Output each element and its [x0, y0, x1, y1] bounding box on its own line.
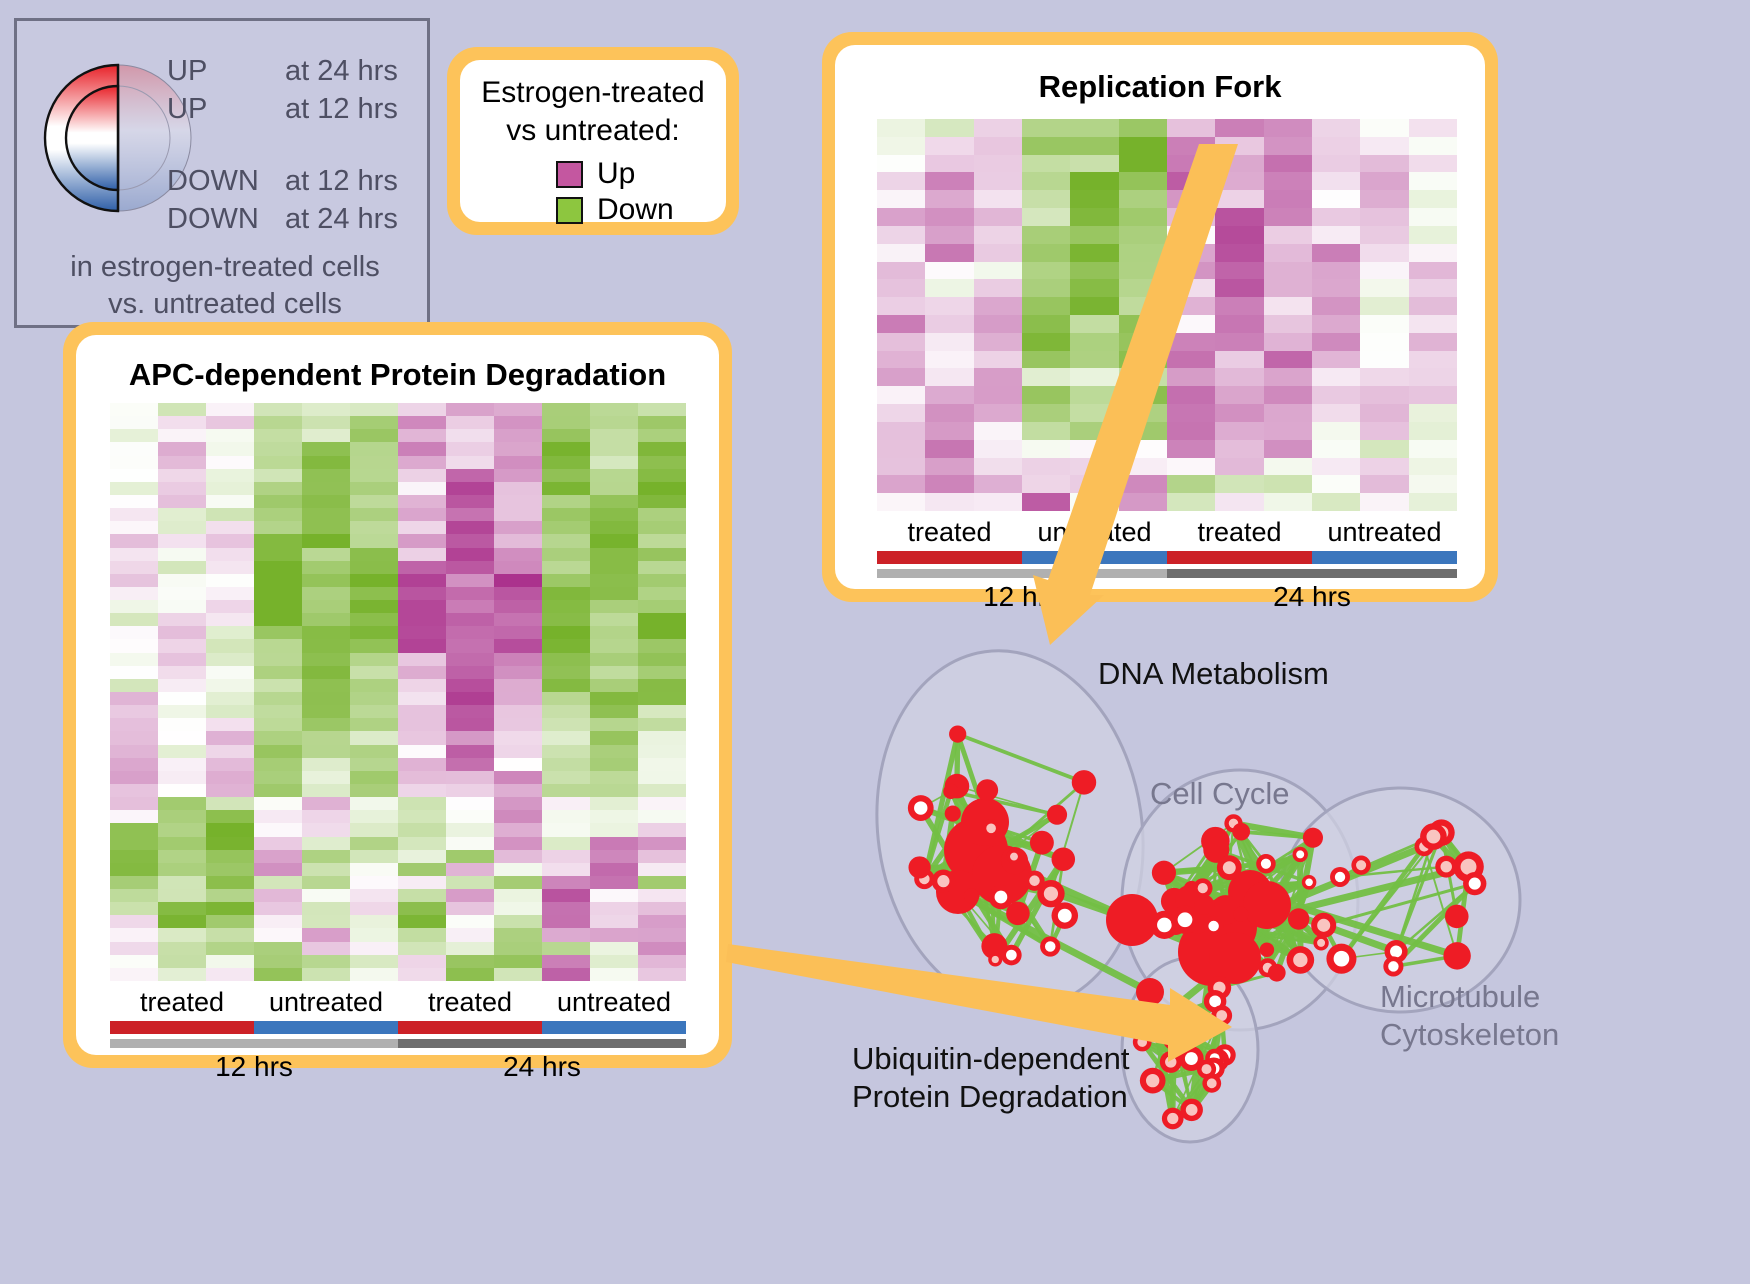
network-node-core — [1305, 879, 1313, 887]
heatmap-cell — [1119, 190, 1167, 208]
heatmap-cell — [206, 692, 254, 705]
heatmap-cell — [350, 679, 398, 692]
heatmap-cell — [1022, 404, 1070, 422]
heatmap-cell — [542, 534, 590, 547]
heatmap-cell — [1312, 386, 1360, 404]
heatmap-cell — [1119, 315, 1167, 333]
heatmap-cell — [398, 626, 446, 639]
heatmap-cell — [638, 508, 686, 521]
legend-swatch-down-icon — [556, 197, 583, 224]
heatmap-cell — [350, 482, 398, 495]
legend-items: Up Down — [556, 156, 674, 228]
heatmap-cell — [350, 626, 398, 639]
heatmap-cell — [398, 548, 446, 561]
heatmap-cell — [877, 422, 925, 440]
heatmap-cell — [494, 850, 542, 863]
heatmap-cell — [542, 600, 590, 613]
network-node — [1072, 770, 1096, 794]
heatmap-cell — [110, 561, 158, 574]
heatmap-cell — [398, 587, 446, 600]
group-label: untreated — [1312, 517, 1457, 551]
heatmap-cell — [302, 456, 350, 469]
heatmap-cell — [110, 928, 158, 941]
heatmap-cell — [206, 705, 254, 718]
heatmap-cell — [350, 863, 398, 876]
heatmap-cell — [638, 639, 686, 652]
heatmap-cell — [1360, 172, 1408, 190]
heatmap-cell — [542, 561, 590, 574]
heatmap-cell — [494, 705, 542, 718]
heatmap-cell — [974, 226, 1022, 244]
heatmap-cell — [158, 456, 206, 469]
heatmap-cell — [925, 351, 973, 369]
heatmap-cell — [590, 915, 638, 928]
heatmap-cell — [158, 784, 206, 797]
heatmap-cell — [158, 863, 206, 876]
cluster-label-ubiquitin-line2: Protein Degradation — [852, 1078, 1128, 1116]
heatmap-cell — [254, 639, 302, 652]
heatmap-cell — [350, 955, 398, 968]
heatmap-cell — [398, 653, 446, 666]
heatmap-cell — [877, 226, 925, 244]
heatmap-cell — [350, 745, 398, 758]
heatmap-cell — [302, 955, 350, 968]
heatmap-cell — [494, 968, 542, 981]
heatmap-cell — [254, 745, 302, 758]
heatmap-cell — [590, 534, 638, 547]
key-row: UP at 24 hrs — [167, 55, 425, 93]
legend-title: Estrogen-treated vs untreated: — [460, 74, 726, 150]
heatmap-cell — [446, 469, 494, 482]
heatmap-cell — [494, 416, 542, 429]
heatmap-cell — [302, 705, 350, 718]
heatmap-cell — [158, 745, 206, 758]
heatmap-cell — [638, 942, 686, 955]
heatmap-cell — [206, 495, 254, 508]
heatmap-cell — [398, 955, 446, 968]
panel-title-replication: Replication Fork — [835, 69, 1485, 105]
heatmap-cell — [542, 889, 590, 902]
network-node — [1232, 823, 1250, 841]
heatmap-cell — [638, 915, 686, 928]
key-row: UP at 12 hrs — [167, 93, 425, 131]
network-node-core — [1334, 951, 1350, 967]
heatmap-cell — [590, 574, 638, 587]
heatmap-cell — [590, 955, 638, 968]
heatmap-cell — [254, 521, 302, 534]
heatmap-cell — [206, 626, 254, 639]
heatmap-cell — [1360, 351, 1408, 369]
heatmap-cell — [350, 889, 398, 902]
heatmap-cell — [350, 534, 398, 547]
heatmap-cell — [110, 942, 158, 955]
heatmap-cell — [398, 600, 446, 613]
heatmap-cell — [206, 587, 254, 600]
heatmap-cell — [206, 731, 254, 744]
heatmap-cell — [350, 600, 398, 613]
network-node — [1006, 902, 1030, 926]
heatmap-cell — [638, 876, 686, 889]
heatmap-cell — [254, 915, 302, 928]
heatmap-cell — [974, 404, 1022, 422]
heatmap-cell — [1409, 386, 1457, 404]
heatmap-cell — [1070, 119, 1118, 137]
heatmap-cell — [446, 758, 494, 771]
heatmap-cell — [110, 902, 158, 915]
heatmap-cell — [974, 368, 1022, 386]
heatmap-cell — [1167, 368, 1215, 386]
network-node — [943, 784, 958, 799]
heatmap-cell — [446, 942, 494, 955]
heatmap-cell — [590, 495, 638, 508]
network-node-core — [1146, 1074, 1159, 1087]
treatment-bar-segment — [398, 1021, 542, 1034]
heatmap-cell — [350, 968, 398, 981]
heatmap-cell — [494, 639, 542, 652]
heatmap-cell — [1312, 172, 1360, 190]
heatmap-cell — [1360, 458, 1408, 476]
heatmap-cell — [206, 653, 254, 666]
heatmap-cell — [638, 442, 686, 455]
heatmap-cell — [1022, 226, 1070, 244]
heatmap-cell — [254, 482, 302, 495]
group-label: treated — [398, 987, 542, 1021]
heatmap-cell — [1022, 422, 1070, 440]
heatmap-cell — [206, 955, 254, 968]
network-node — [1209, 932, 1261, 984]
legend-item-up: Up — [556, 156, 674, 192]
heatmap-cell — [494, 442, 542, 455]
heatmap-cell — [206, 456, 254, 469]
heatmap-cell — [350, 705, 398, 718]
heatmap-cell — [254, 534, 302, 547]
heatmap-cell — [1360, 386, 1408, 404]
heatmap-cell — [1215, 333, 1263, 351]
heatmap-cell — [110, 679, 158, 692]
heatmap-cell — [1264, 137, 1312, 155]
heatmap-cell — [494, 771, 542, 784]
network-node-core — [1390, 946, 1402, 958]
heatmap-cell — [590, 863, 638, 876]
heatmap-cell — [206, 561, 254, 574]
heatmap-cell — [446, 915, 494, 928]
network-node-core — [1149, 1017, 1160, 1028]
heatmap-cell — [542, 731, 590, 744]
color-key-box: UP at 24 hrs UP at 12 hrs DOWN at 12 hrs… — [14, 18, 430, 328]
heatmap-cell — [1167, 279, 1215, 297]
heatmap-cell — [1119, 137, 1167, 155]
heatmap-cell — [206, 837, 254, 850]
heatmap-cell — [254, 626, 302, 639]
heatmap-cell — [398, 810, 446, 823]
heatmap-cell — [542, 626, 590, 639]
heatmap-cell — [206, 574, 254, 587]
heatmap-cell — [542, 850, 590, 863]
key-row: DOWN at 12 hrs — [167, 165, 425, 203]
heatmap-cell — [1264, 440, 1312, 458]
heatmap-cell — [158, 679, 206, 692]
network-node — [949, 725, 966, 742]
heatmap-cell — [398, 823, 446, 836]
treatment-bar-apc — [110, 1021, 686, 1034]
heatmap-cell — [1409, 493, 1457, 511]
heatmap-cell — [590, 889, 638, 902]
heatmap-cell — [302, 771, 350, 784]
heatmap-cell — [494, 942, 542, 955]
heatmap-cell — [494, 784, 542, 797]
heatmap-cell — [974, 422, 1022, 440]
heatmap-cell — [974, 315, 1022, 333]
heatmap-cell — [302, 718, 350, 731]
heatmap-cell — [350, 771, 398, 784]
heatmap-cell — [1215, 190, 1263, 208]
heatmap-cell — [1360, 297, 1408, 315]
heatmap-cell — [158, 968, 206, 981]
heatmap-cell — [398, 718, 446, 731]
heatmap-cell — [1167, 119, 1215, 137]
heatmap-cell — [398, 508, 446, 521]
network-node — [1233, 907, 1248, 922]
heatmap-cell — [590, 731, 638, 744]
heatmap-cell — [542, 521, 590, 534]
heatmap-cell — [1119, 493, 1167, 511]
heatmap-cell — [638, 403, 686, 416]
heatmap-cell — [206, 429, 254, 442]
heatmap-cell — [925, 440, 973, 458]
heatmap-cell — [590, 810, 638, 823]
figure-root: UP at 24 hrs UP at 12 hrs DOWN at 12 hrs… — [0, 0, 1750, 1279]
heatmap-cell — [446, 534, 494, 547]
group-labels-apc: treated untreated treated untreated — [110, 987, 686, 1021]
heatmap-cell — [542, 548, 590, 561]
heatmap-cell — [1215, 368, 1263, 386]
heatmap-cell — [1167, 351, 1215, 369]
heatmap-cell — [302, 692, 350, 705]
heatmap-cell — [494, 666, 542, 679]
heatmap-cell — [638, 626, 686, 639]
network-node — [1288, 908, 1309, 929]
heatmap-cell — [925, 119, 973, 137]
heatmap-cell — [638, 850, 686, 863]
heatmap-cell — [350, 823, 398, 836]
heatmap-cell — [1022, 386, 1070, 404]
network-node-core — [1164, 1016, 1175, 1027]
treatment-bar-segment — [1167, 551, 1312, 564]
heatmap-cell — [158, 837, 206, 850]
heatmap-cell — [494, 679, 542, 692]
treatment-bar-segment — [542, 1021, 686, 1034]
heatmap-cell — [350, 666, 398, 679]
heatmap-cell — [446, 797, 494, 810]
heatmap-cell — [1215, 226, 1263, 244]
heatmap-cell — [302, 442, 350, 455]
heatmap-cell — [925, 172, 973, 190]
heatmap-cell — [158, 889, 206, 902]
key-time: at 12 hrs — [285, 165, 398, 198]
heatmap-cell — [1119, 368, 1167, 386]
heatmap-cell — [1264, 172, 1312, 190]
heatmap-cell — [302, 639, 350, 652]
heatmap-cell — [446, 928, 494, 941]
heatmap-cell — [590, 456, 638, 469]
heatmap-cell — [590, 718, 638, 731]
heatmap-cell — [398, 705, 446, 718]
heatmap-cell — [110, 403, 158, 416]
heatmap-cell — [1022, 208, 1070, 226]
heatmap-cell — [350, 548, 398, 561]
heatmap-cell — [1312, 190, 1360, 208]
heatmap-cell — [110, 810, 158, 823]
heatmap-cell — [398, 456, 446, 469]
heatmap-cell — [638, 534, 686, 547]
heatmap-cell — [590, 692, 638, 705]
key-spacer — [167, 131, 425, 165]
panel-replication-inner: Replication Fork treated untreated treat… — [835, 45, 1485, 589]
heatmap-cell — [1312, 458, 1360, 476]
heatmap-cell — [494, 561, 542, 574]
heatmap-cell — [110, 837, 158, 850]
time-bar-segment — [110, 1039, 398, 1048]
heatmap-cell — [446, 600, 494, 613]
heatmap-cell — [254, 810, 302, 823]
heatmap-cell — [110, 771, 158, 784]
heatmap-cell — [1119, 404, 1167, 422]
group-label: untreated — [254, 987, 398, 1021]
heatmap-cell — [590, 548, 638, 561]
panel-apc-inner: APC-dependent Protein Degradation treate… — [76, 335, 719, 1055]
heatmap-cell — [1264, 208, 1312, 226]
heatmap-cell — [158, 718, 206, 731]
heatmap-apc — [110, 403, 686, 981]
heatmap-cell — [254, 718, 302, 731]
heatmap-cell — [350, 850, 398, 863]
heatmap-cell — [206, 968, 254, 981]
heatmap-cell — [254, 771, 302, 784]
network-node-core — [1469, 878, 1481, 890]
heatmap-cell — [1167, 155, 1215, 173]
heatmap-cell — [206, 823, 254, 836]
heatmap-cell — [206, 915, 254, 928]
heatmap-cell — [1167, 386, 1215, 404]
heatmap-cell — [494, 745, 542, 758]
heatmap-cell — [350, 561, 398, 574]
heatmap-cell — [1215, 386, 1263, 404]
heatmap-cell — [1264, 458, 1312, 476]
heatmap-cell — [542, 942, 590, 955]
heatmap-cell — [398, 797, 446, 810]
heatmap-cell — [494, 587, 542, 600]
heatmap-cell — [158, 823, 206, 836]
heatmap-cell — [590, 902, 638, 915]
heatmap-cell — [158, 928, 206, 941]
heatmap-cell — [494, 469, 542, 482]
heatmap-cell — [1312, 333, 1360, 351]
heatmap-cell — [206, 534, 254, 547]
heatmap-cell — [925, 422, 973, 440]
heatmap-cell — [542, 574, 590, 587]
heatmap-cell — [350, 758, 398, 771]
heatmap-cell — [494, 718, 542, 731]
heatmap-cell — [302, 429, 350, 442]
heatmap-cell — [638, 679, 686, 692]
heatmap-cell — [1264, 226, 1312, 244]
key-time: at 24 hrs — [285, 203, 398, 236]
heatmap-cell — [254, 692, 302, 705]
heatmap-cell — [254, 876, 302, 889]
heatmap-cell — [398, 863, 446, 876]
heatmap-cell — [110, 784, 158, 797]
heatmap-cell — [1409, 119, 1457, 137]
heatmap-cell — [638, 823, 686, 836]
heatmap-cell — [1360, 279, 1408, 297]
heatmap-cell — [877, 297, 925, 315]
heatmap-cell — [542, 758, 590, 771]
heatmap-cell — [494, 626, 542, 639]
network-node — [1052, 847, 1076, 871]
heatmap-cell — [638, 600, 686, 613]
heatmap-cell — [542, 797, 590, 810]
heatmap-cell — [1360, 333, 1408, 351]
heatmap-cell — [110, 745, 158, 758]
heatmap-cell — [1264, 422, 1312, 440]
heatmap-cell — [638, 745, 686, 758]
heatmap-cell — [158, 758, 206, 771]
heatmap-cell — [158, 626, 206, 639]
network-node-core — [1293, 953, 1307, 967]
heatmap-cell — [206, 718, 254, 731]
heatmap-cell — [350, 587, 398, 600]
legend-title-line1: Estrogen-treated — [460, 74, 726, 112]
heatmap-cell — [350, 403, 398, 416]
heatmap-cell — [925, 297, 973, 315]
heatmap-cell — [446, 679, 494, 692]
heatmap-cell — [638, 718, 686, 731]
heatmap-cell — [302, 797, 350, 810]
treatment-bar-replication — [877, 551, 1457, 564]
network-node-core — [1317, 939, 1325, 947]
heatmap-cell — [590, 928, 638, 941]
heatmap-cell — [1264, 315, 1312, 333]
heatmap-cell — [542, 692, 590, 705]
heatmap-cell — [158, 653, 206, 666]
heatmap-cell — [158, 639, 206, 652]
heatmap-cell — [1022, 315, 1070, 333]
heatmap-cell — [1022, 493, 1070, 511]
heatmap-cell — [398, 495, 446, 508]
heatmap-cell — [1070, 475, 1118, 493]
heatmap-cell — [206, 784, 254, 797]
heatmap-cell — [1167, 493, 1215, 511]
key-caption-line1: in estrogen-treated cells — [17, 249, 433, 286]
heatmap-cell — [1409, 475, 1457, 493]
heatmap-cell — [925, 493, 973, 511]
heatmap-cell — [638, 810, 686, 823]
heatmap-cell — [925, 368, 973, 386]
heatmap-cell — [446, 482, 494, 495]
heatmap-cell — [446, 876, 494, 889]
heatmap-cell — [542, 613, 590, 626]
heatmap-cell — [110, 442, 158, 455]
heatmap-cell — [638, 955, 686, 968]
heatmap-cell — [350, 692, 398, 705]
heatmap-cell — [1312, 226, 1360, 244]
key-state: UP — [167, 55, 285, 88]
heatmap-cell — [1119, 333, 1167, 351]
heatmap-cell — [1409, 404, 1457, 422]
heatmap-cell — [350, 876, 398, 889]
heatmap-cell — [254, 416, 302, 429]
heatmap-cell — [206, 942, 254, 955]
